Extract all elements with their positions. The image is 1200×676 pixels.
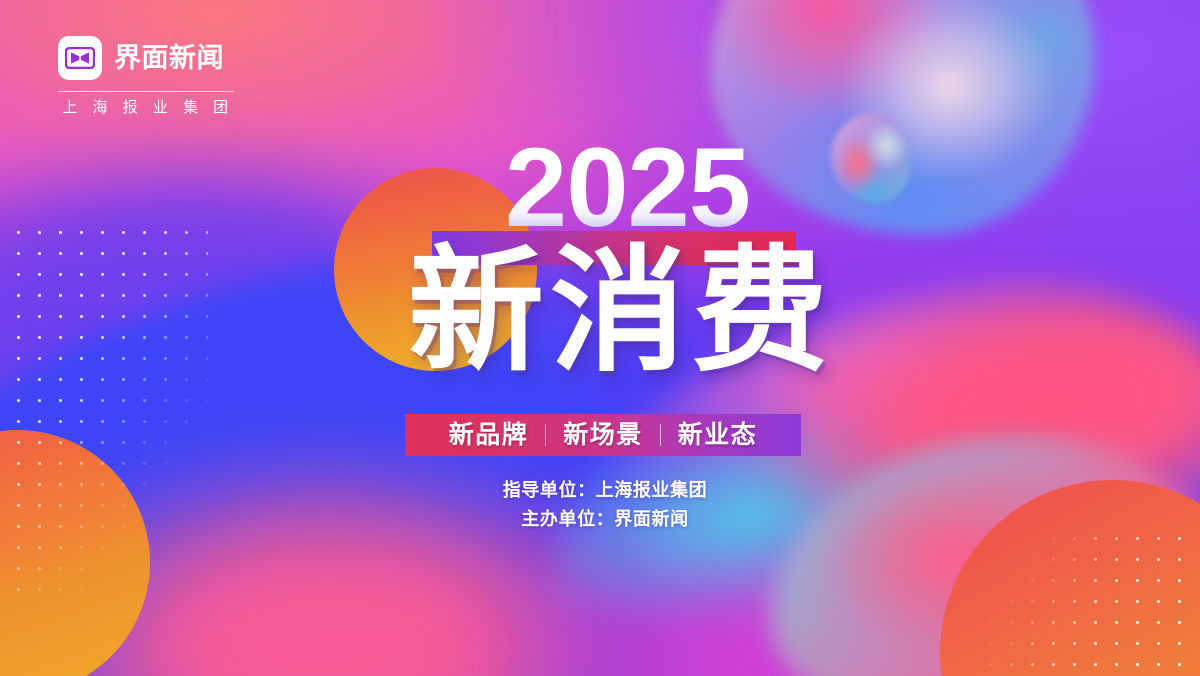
tagline-item-3: 新业态 — [678, 423, 758, 448]
logo-wordmark: 界面新闻 — [114, 45, 224, 72]
tagline-separator-2 — [660, 424, 661, 446]
tagline-item-2: 新场景 — [563, 423, 643, 448]
credit-guidance: 指导单位：上海报业集团 — [10, 476, 1200, 505]
main-title: 新消费 — [0, 238, 1200, 385]
logo-divider — [58, 91, 234, 92]
tagline-separator-1 — [545, 424, 546, 446]
logo-row: 界面新闻 — [58, 36, 234, 80]
poster-canvas: 界面新闻 上 海 报 业 集 团 2025 新消费 新品牌 新场景 新业态 指导… — [0, 0, 1200, 676]
tagline-item-1: 新品牌 — [449, 423, 529, 448]
credit-organizer: 主办单位：界面新闻 — [10, 505, 1200, 534]
credits-block: 指导单位：上海报业集团 主办单位：界面新闻 — [0, 476, 1200, 534]
logo-subtitle: 上 海 报 业 集 团 — [58, 100, 234, 115]
year-heading: 2025 — [0, 132, 1200, 244]
jiemian-film-mark-icon — [58, 36, 102, 80]
brand-logo[interactable]: 界面新闻 上 海 报 业 集 团 — [58, 36, 234, 115]
tagline-badge: 新品牌 新场景 新业态 — [405, 414, 801, 456]
